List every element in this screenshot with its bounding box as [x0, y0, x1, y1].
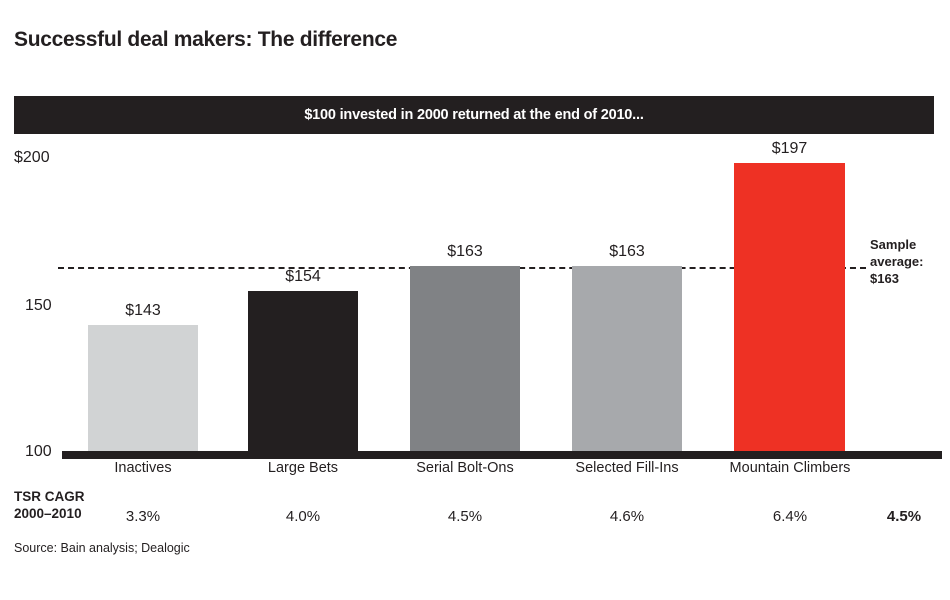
- cagr-header-line-1: TSR CAGR: [14, 489, 85, 506]
- bar-large-bets[interactable]: $154: [248, 291, 358, 451]
- y-axis-tick-100: 100: [25, 443, 52, 461]
- category-label-serial-bolt-ons: Serial Bolt-Ons: [400, 460, 530, 476]
- cagr-header-line-2: 2000–2010: [14, 506, 85, 523]
- category-label-large-bets: Large Bets: [238, 460, 368, 476]
- banner-bar: $100 invested in 2000 returned at the en…: [14, 96, 934, 134]
- cagr-row-header: TSR CAGR 2000–2010: [14, 489, 85, 523]
- sample-average-line-3: $163: [870, 270, 948, 287]
- banner-title: $100 invested in 2000 returned at the en…: [14, 96, 934, 134]
- cagr-value-inactives: 3.3%: [78, 508, 208, 525]
- bar-column-mountain-climbers: $197: [734, 159, 844, 451]
- bar-serial-bolt-ons[interactable]: $163: [410, 266, 520, 451]
- plot-area: $200 150 100 Sample average: $163 $143 I…: [0, 140, 950, 470]
- cagr-value-selected-fill-ins: 4.6%: [562, 508, 692, 525]
- bar-selected-fill-ins[interactable]: $163: [572, 266, 682, 451]
- cagr-value-mountain-climbers: 6.4%: [725, 508, 855, 525]
- sample-average-line-1: Sample: [870, 236, 948, 253]
- bar-value-mountain-climbers: $197: [734, 140, 845, 163]
- x-axis-line: [62, 451, 942, 459]
- bar-value-serial-bolt-ons: $163: [410, 243, 520, 266]
- chart-page: Successful deal makers: The difference $…: [0, 0, 950, 600]
- cagr-value-large-bets: 4.0%: [238, 508, 368, 525]
- bar-value-large-bets: $154: [248, 268, 358, 291]
- y-axis-tick-200: $200: [14, 149, 50, 167]
- category-label-inactives: Inactives: [78, 460, 208, 476]
- bar-column-large-bets: $154: [248, 159, 358, 451]
- bar-value-inactives: $143: [88, 302, 198, 325]
- category-label-selected-fill-ins: Selected Fill-Ins: [562, 460, 692, 476]
- category-label-mountain-climbers: Mountain Climbers: [725, 460, 855, 476]
- bar-inactives[interactable]: $143: [88, 325, 198, 451]
- cagr-value-sample-average: 4.5%: [872, 508, 936, 525]
- bar-column-serial-bolt-ons: $163: [410, 159, 520, 451]
- page-title: Successful deal makers: The difference: [14, 28, 397, 52]
- sample-average-line-2: average:: [870, 253, 948, 270]
- y-axis-tick-150: 150: [25, 297, 52, 315]
- bar-mountain-climbers[interactable]: $197: [734, 163, 845, 451]
- source-note: Source: Bain analysis; Dealogic: [14, 541, 190, 555]
- sample-average-annotation: Sample average: $163: [870, 236, 948, 287]
- bar-value-selected-fill-ins: $163: [572, 243, 682, 266]
- bar-column-inactives: $143: [88, 159, 198, 451]
- cagr-value-serial-bolt-ons: 4.5%: [400, 508, 530, 525]
- bar-column-selected-fill-ins: $163: [572, 159, 682, 451]
